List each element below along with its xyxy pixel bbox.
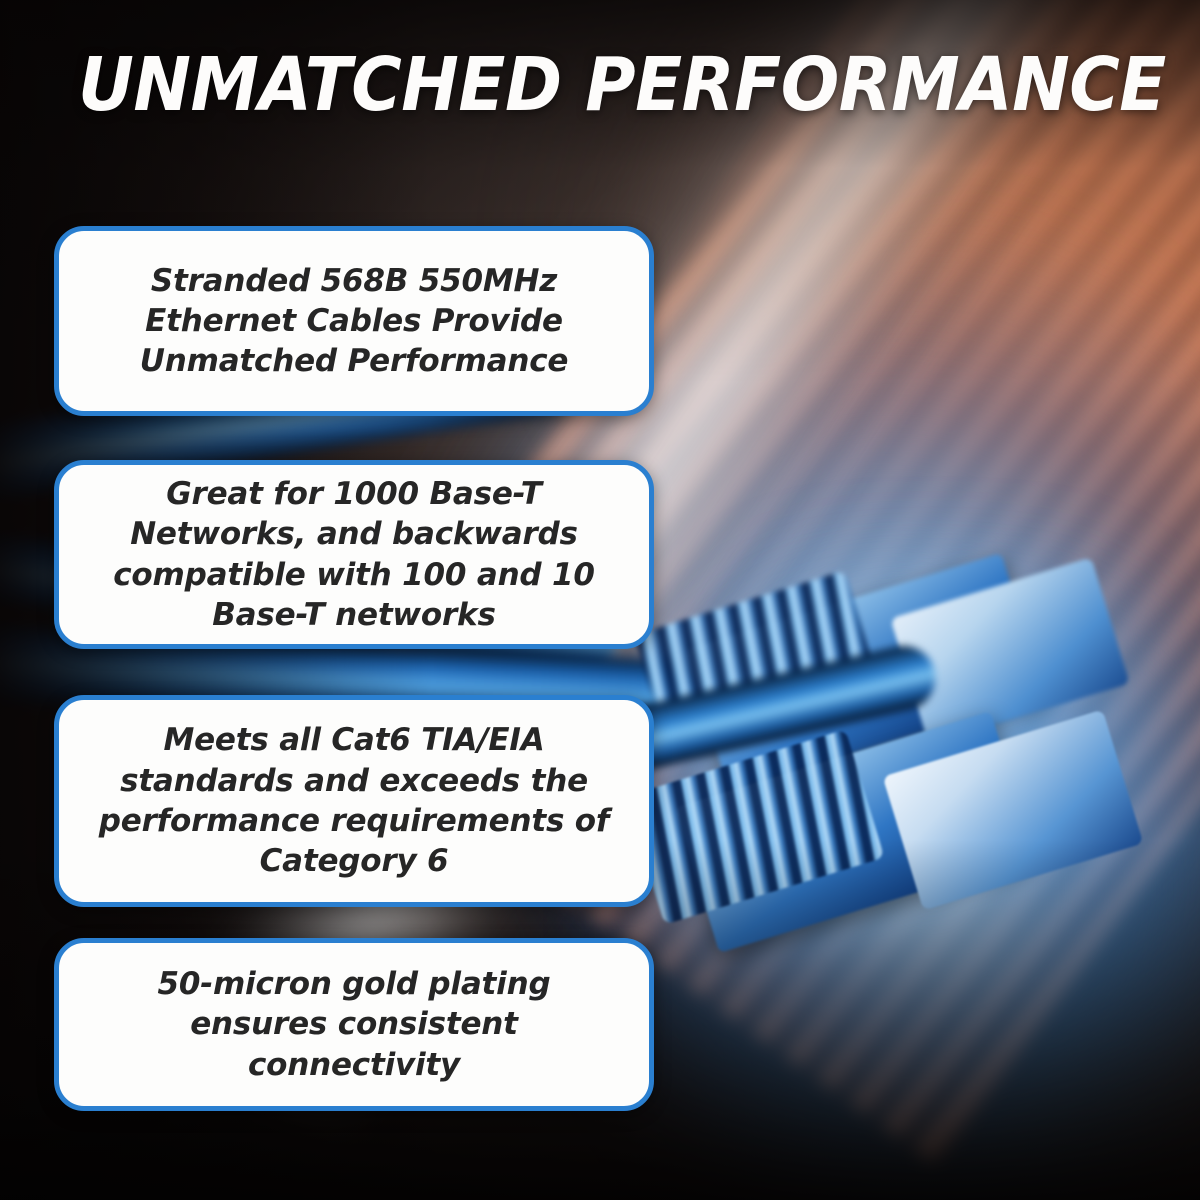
feature-card-list: Stranded 568B 550MHz Ethernet Cables Pro… [54,226,654,1111]
feature-card-text: 50-micron gold plating ensures consisten… [59,964,649,1085]
feature-card-gold-plating: 50-micron gold plating ensures consisten… [54,938,654,1111]
feature-card-standards: Meets all Cat6 TIA/EIA standards and exc… [54,695,654,907]
page-title: UNMATCHED PERFORMANCE [78,48,1073,122]
feature-card-text: Meets all Cat6 TIA/EIA standards and exc… [59,720,649,881]
product-infographic: UNMATCHED PERFORMANCE Stranded 568B 550M… [0,0,1200,1200]
feature-card-text: Stranded 568B 550MHz Ethernet Cables Pro… [59,261,649,382]
feature-card-performance: Stranded 568B 550MHz Ethernet Cables Pro… [54,226,654,416]
feature-card-compatibility: Great for 1000 Base-T Networks, and back… [54,460,654,649]
feature-card-text: Great for 1000 Base-T Networks, and back… [59,474,649,635]
